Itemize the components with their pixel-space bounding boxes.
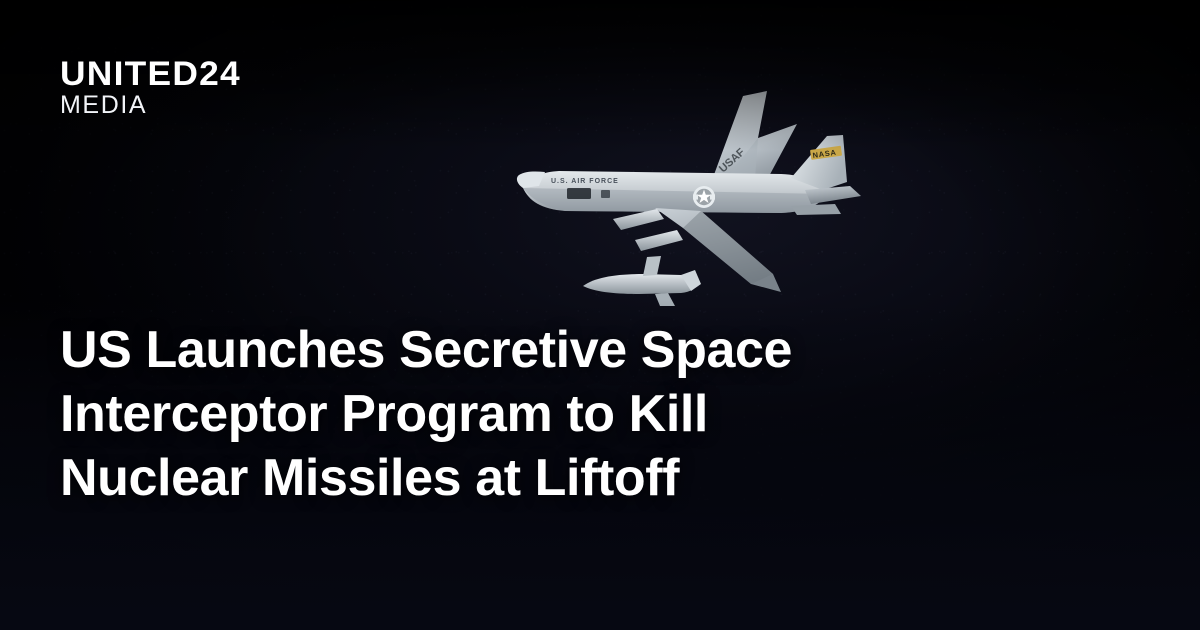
headline-line-2: Interceptor Program to Kill (60, 382, 1020, 446)
united24-media-logo[interactable]: UNITED24 MEDIA (60, 58, 234, 118)
logo-subtitle: MEDIA (60, 93, 234, 118)
headline-line-1: US Launches Secretive Space (60, 318, 1020, 382)
logo-wordmark: UNITED24 (60, 58, 241, 90)
headline-line-3: Nuclear Missiles at Liftoff (60, 446, 1020, 510)
headline: US Launches Secretive Space Interceptor … (60, 318, 1020, 510)
social-share-card: USAF U.S. AIR FORCE (0, 0, 1200, 630)
